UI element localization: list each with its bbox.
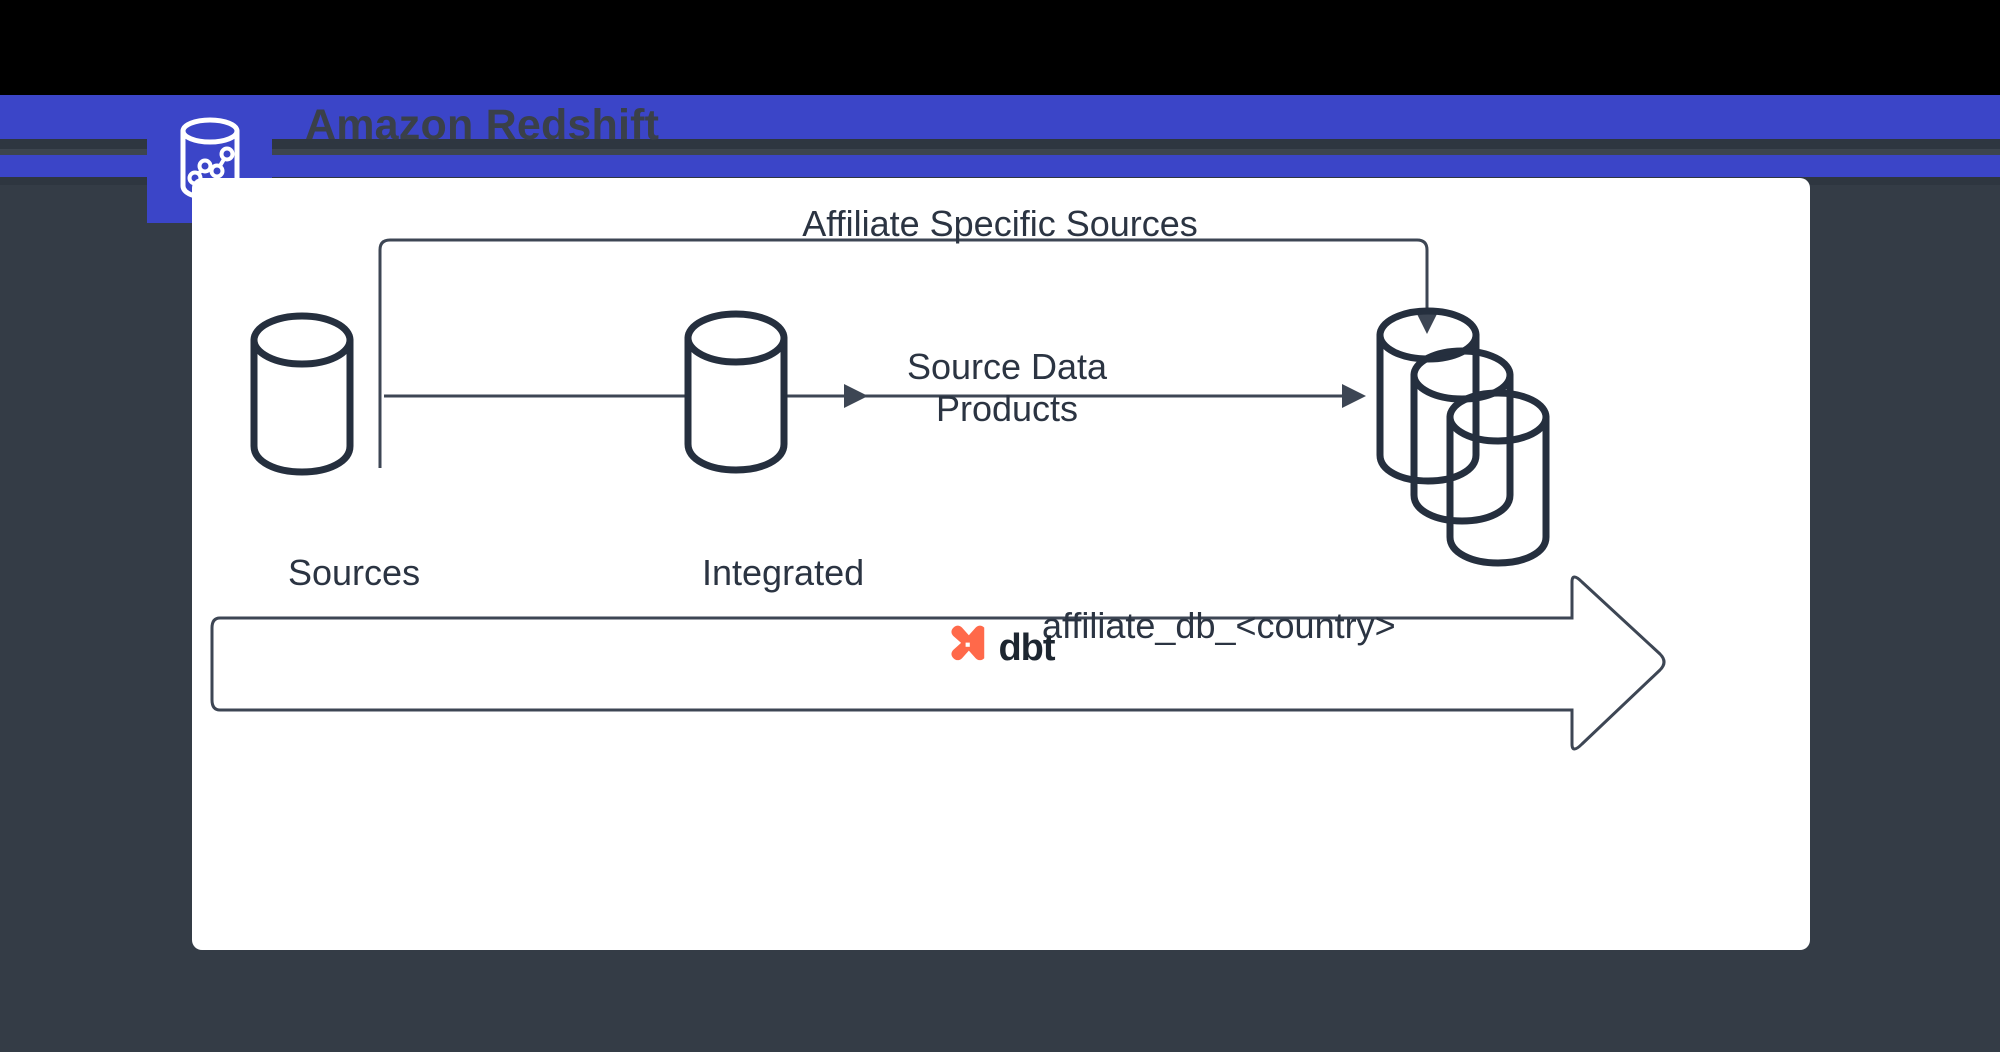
header-band	[0, 95, 2000, 139]
node-label-sources: Sources	[288, 555, 420, 591]
node-label-integrated: Integrated	[702, 555, 864, 591]
cylinder-sources	[254, 316, 350, 472]
service-title: Amazon Redshift	[305, 104, 659, 147]
edge-label-source-data-products: Source Data Products	[842, 346, 1172, 430]
cylinder-stack-affiliate-db	[1380, 311, 1546, 563]
dbt-banner-arrow	[212, 577, 1664, 749]
architecture-diagram	[192, 178, 1810, 950]
node-label-affiliate-db: affiliate_db_<country>	[1042, 608, 1396, 644]
edge-label-affiliate-specific-sources: Affiliate Specific Sources	[605, 203, 1395, 245]
screenshot-root: Amazon Redshift	[0, 0, 2000, 1052]
backdrop-strip-1	[0, 139, 2000, 149]
cylinder-integrated	[688, 314, 784, 470]
header-band-lower	[0, 155, 2000, 177]
diagram-card: Sources Integrated affiliate_db_<country…	[192, 178, 1810, 950]
